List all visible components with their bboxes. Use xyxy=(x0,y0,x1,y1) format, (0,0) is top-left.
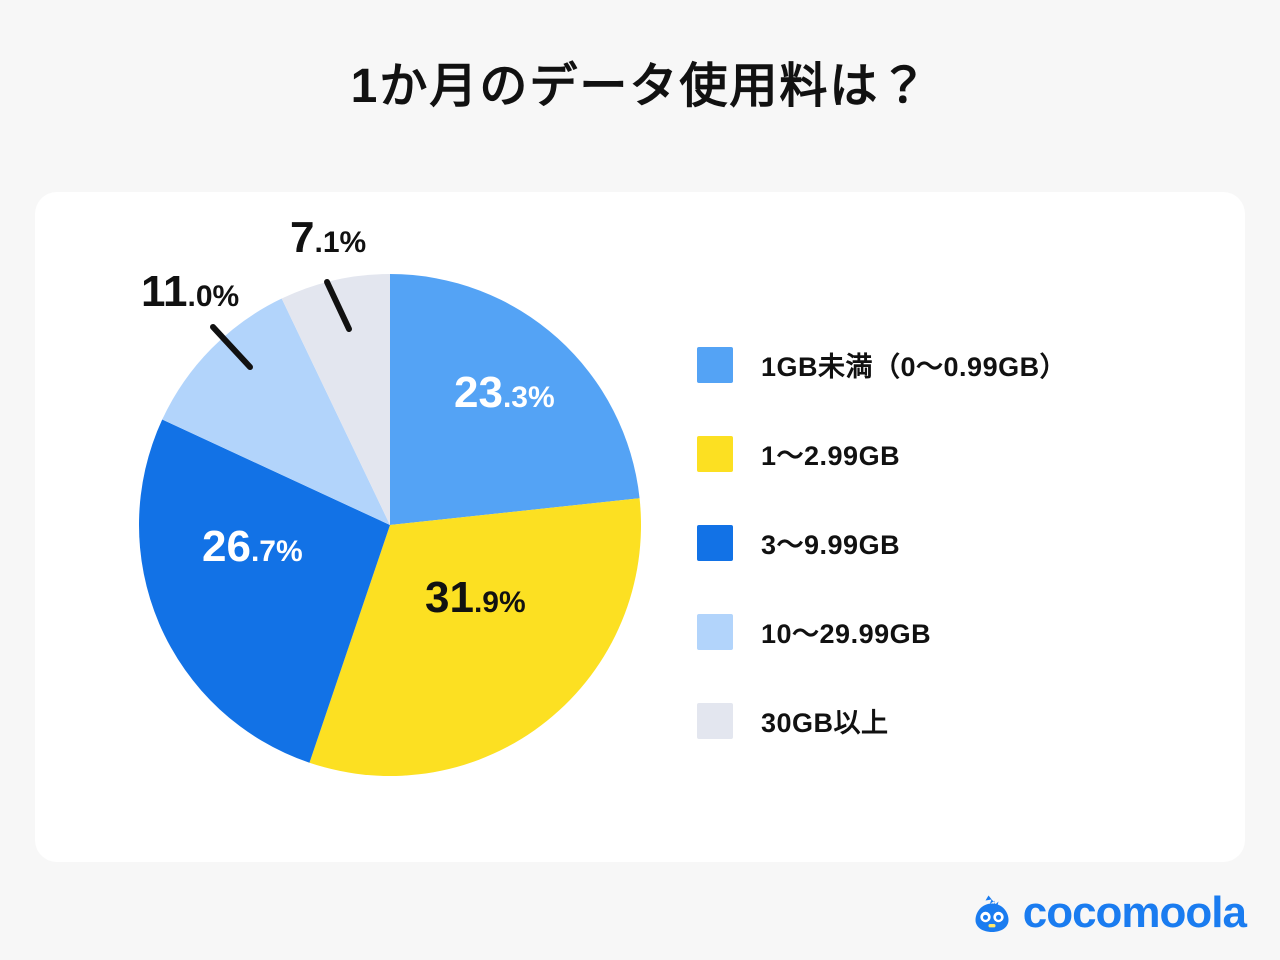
legend-label-10-29-99gb: 10〜29.99GB xyxy=(761,612,931,651)
slice-value-1-2-99gb-dec: .9% xyxy=(474,586,526,619)
leader-line-10-29gb xyxy=(213,327,250,367)
pie-slice[interactable] xyxy=(282,274,390,525)
legend-label-1-2-99gb: 1〜2.99GB xyxy=(761,434,900,473)
slice-value-30gb-plus-dec: .1% xyxy=(314,226,366,259)
slice-value-1gb-under: 23.3% xyxy=(454,371,555,415)
legend-swatch-10-29-99gb xyxy=(697,614,733,650)
legend-label-30gb-plus: 30GB以上 xyxy=(761,701,889,740)
slice-value-3-9-99gb-dec: .7% xyxy=(251,535,303,568)
brand-logo[interactable]: cocomoola xyxy=(969,890,1246,936)
legend-label-3-9-99gb: 3〜9.99GB xyxy=(761,523,900,562)
slice-value-1gb-under-int: 23 xyxy=(454,368,503,417)
legend-item-1gb-under[interactable]: 1GB未満（0〜0.99GB） xyxy=(697,320,1217,409)
brand-name: cocomoola xyxy=(1023,891,1246,935)
legend-item-1-2-99gb[interactable]: 1〜2.99GB xyxy=(697,409,1217,498)
pie-slice[interactable] xyxy=(162,299,390,525)
slice-value-30gb-plus: 7.1% xyxy=(290,216,366,260)
slice-value-30gb-plus-int: 7 xyxy=(290,213,314,262)
slice-value-3-9-99gb: 26.7% xyxy=(202,525,303,569)
chart-legend: 1GB未満（0〜0.99GB） 1〜2.99GB 3〜9.99GB 10〜29.… xyxy=(697,320,1217,765)
legend-swatch-1-2-99gb xyxy=(697,436,733,472)
slice-value-10-29-99gb: 11.0% xyxy=(141,270,239,314)
slice-value-1gb-under-dec: .3% xyxy=(503,381,555,414)
page-title: 1か月のデータ使用料は？ xyxy=(0,58,1280,116)
slice-value-1-2-99gb: 31.9% xyxy=(425,576,526,620)
leader-line-30gb-plus xyxy=(327,282,349,329)
chart-card: 23.3% 31.9% 26.7% 11.0% 7.1% 1GB未満（0〜0.9… xyxy=(35,192,1245,862)
legend-label-1gb-under: 1GB未満（0〜0.99GB） xyxy=(761,345,1067,384)
slice-value-3-9-99gb-int: 26 xyxy=(202,522,251,571)
slice-value-1-2-99gb-int: 31 xyxy=(425,573,474,622)
pie-slice[interactable] xyxy=(309,498,641,776)
legend-item-30gb-plus[interactable]: 30GB以上 xyxy=(697,676,1217,765)
legend-item-3-9-99gb[interactable]: 3〜9.99GB xyxy=(697,498,1217,587)
legend-swatch-3-9-99gb xyxy=(697,525,733,561)
slice-value-10-29-99gb-dec: .0% xyxy=(188,280,240,313)
legend-swatch-30gb-plus xyxy=(697,703,733,739)
legend-swatch-1gb-under xyxy=(697,347,733,383)
legend-item-10-29-99gb[interactable]: 10〜29.99GB xyxy=(697,587,1217,676)
pie-slice[interactable] xyxy=(139,420,390,763)
money-bag-mascot-icon xyxy=(969,890,1015,936)
pie-chart: 23.3% 31.9% 26.7% 11.0% 7.1% xyxy=(35,192,695,862)
slice-value-10-29-99gb-int: 11 xyxy=(141,267,188,316)
